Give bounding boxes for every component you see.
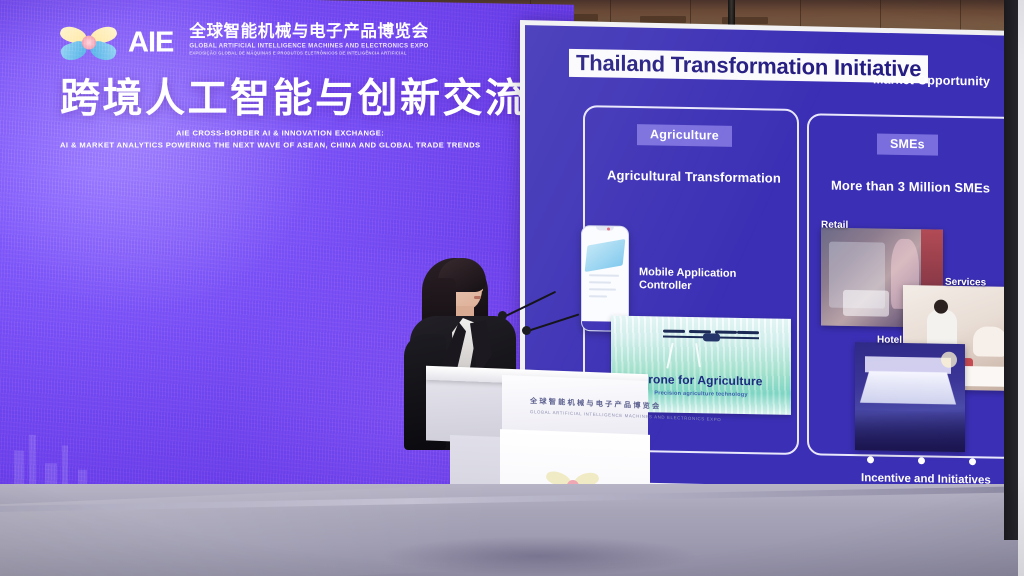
hotel-tag: Hotel xyxy=(877,334,902,345)
microphone-head-left xyxy=(498,311,507,320)
right-wall-strip xyxy=(1018,0,1024,576)
services-tag: Services xyxy=(945,277,986,289)
smes-header: More than 3 Million SMEs xyxy=(831,178,990,196)
forum-title-cn: 跨境人工智能与创新交流论坛 xyxy=(60,77,520,122)
agriculture-header: Agricultural Transformation xyxy=(607,168,781,186)
expo-name-en: GLOBAL ARTIFICIAL INTELLIGENCE MACHINES … xyxy=(189,42,428,49)
expo-name-pt: EXPOSIÇÃO GLOBAL DE MÁQUINAS E PRODUTOS … xyxy=(189,51,428,56)
agriculture-pill: Agriculture xyxy=(637,124,732,147)
smes-pill: SMEs xyxy=(877,133,938,155)
microphone-head-right xyxy=(522,326,531,335)
retail-tag: Retail xyxy=(821,219,848,230)
hotel-photo xyxy=(855,342,965,452)
slide-subtitle: Market Opportunity xyxy=(873,72,990,88)
podium-floor-shadow xyxy=(380,536,700,576)
mobile-application-controller-label: Mobile Application Controller xyxy=(639,266,747,293)
forum-subtitle-line2: AI & MARKET ANALYTICS POWERING THE NEXT … xyxy=(60,140,520,149)
aie-butterfly-logo-icon xyxy=(60,24,118,68)
forum-subtitle-line1: AIE CROSS-BORDER AI & INNOVATION EXCHANG… xyxy=(176,128,520,137)
conference-stage-photo: AIE 全球智能机械与电子产品博览会 GLOBAL ARTIFICIAL INT… xyxy=(0,0,1024,576)
event-branding: AIE 全球智能机械与电子产品博览会 GLOBAL ARTIFICIAL INT… xyxy=(60,22,520,150)
podium-top-side xyxy=(426,378,504,443)
expo-name-cn: 全球智能机械与电子产品博览会 xyxy=(189,23,428,40)
aie-wordmark: AIE xyxy=(128,29,173,58)
incentive-dots xyxy=(867,456,1024,466)
